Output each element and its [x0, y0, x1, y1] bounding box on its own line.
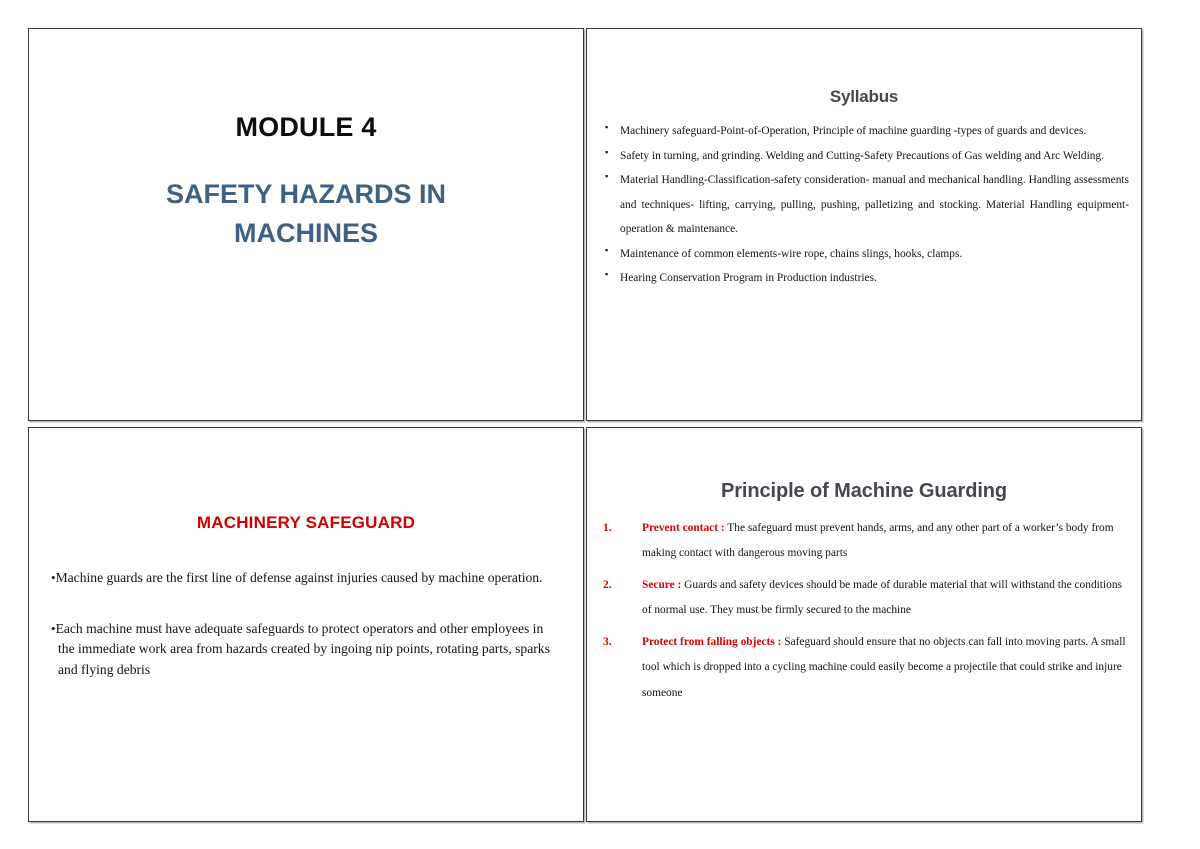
list-item: Material Handling-Classification-safety …	[599, 168, 1129, 242]
paragraph: •Each machine must have adequate safegua…	[51, 619, 559, 681]
module-heading: MODULE 4	[29, 113, 583, 143]
list-item-text: Guards and safety devices should be made…	[642, 579, 1122, 616]
slide-grid: MODULE 4 SAFETY HAZARDS IN MACHINES Syll…	[28, 28, 1142, 822]
machinery-safeguard-body: •Machine guards are the first line of de…	[51, 568, 559, 711]
list-item-lead: Prevent contact :	[642, 522, 725, 534]
module-subtitle: SAFETY HAZARDS IN MACHINES	[29, 175, 583, 253]
paragraph-text: Machine guards are the first line of def…	[56, 570, 543, 585]
list-item: Machinery safeguard-Point-of-Operation, …	[599, 119, 1129, 144]
syllabus-title: Syllabus	[587, 87, 1141, 107]
list-item-number: 1.	[603, 516, 612, 541]
list-item: Maintenance of common elements-wire rope…	[599, 242, 1129, 267]
list-item: Safety in turning, and grinding. Welding…	[599, 144, 1129, 169]
list-item: 1.Prevent contact : The safeguard must p…	[595, 516, 1127, 566]
slide-title[interactable]: MODULE 4 SAFETY HAZARDS IN MACHINES	[28, 28, 584, 421]
principle-numbered-list: 1.Prevent contact : The safeguard must p…	[595, 516, 1127, 713]
slide-principle-of-machine-guarding[interactable]: Principle of Machine Guarding 1.Prevent …	[586, 427, 1142, 822]
syllabus-bullet-list: Machinery safeguard-Point-of-Operation, …	[599, 119, 1129, 291]
list-item-lead: Protect from falling objects :	[642, 636, 781, 648]
principle-title: Principle of Machine Guarding	[587, 480, 1141, 503]
slide-machinery-safeguard[interactable]: MACHINERY SAFEGUARD •Machine guards are …	[28, 427, 584, 822]
list-item-lead: Secure :	[642, 579, 681, 591]
list-item: Hearing Conservation Program in Producti…	[599, 266, 1129, 291]
handout-page: MODULE 4 SAFETY HAZARDS IN MACHINES Syll…	[0, 0, 1200, 849]
list-item: 2.Secure : Guards and safety devices sho…	[595, 573, 1127, 623]
machinery-safeguard-title: MACHINERY SAFEGUARD	[29, 513, 583, 533]
list-item-number: 2.	[603, 573, 612, 598]
paragraph: •Machine guards are the first line of de…	[51, 568, 559, 589]
title-block: MODULE 4 SAFETY HAZARDS IN MACHINES	[29, 113, 583, 253]
paragraph-text: Each machine must have adequate safeguar…	[56, 621, 550, 677]
list-item-number: 3.	[603, 630, 612, 655]
slide-syllabus[interactable]: Syllabus Machinery safeguard-Point-of-Op…	[586, 28, 1142, 421]
list-item: 3.Protect from falling objects : Safegua…	[595, 630, 1127, 705]
